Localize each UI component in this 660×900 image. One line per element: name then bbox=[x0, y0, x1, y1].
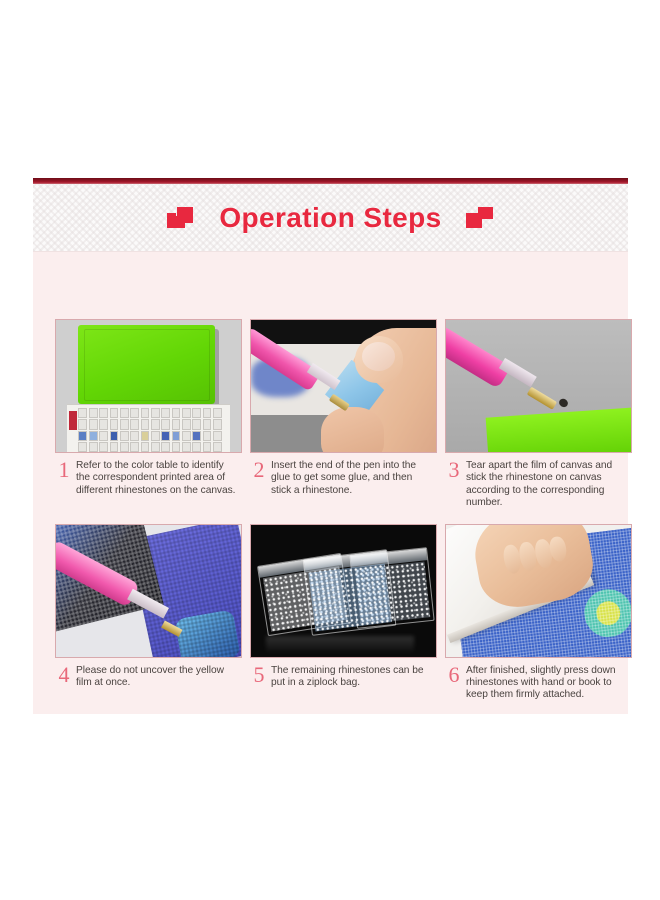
step-number: 1 bbox=[57, 460, 71, 497]
ziplock-bag-shape bbox=[302, 549, 396, 635]
steps-row-1: 1 Refer to the color table to identify t… bbox=[55, 319, 606, 510]
step-text: After finished, slightly press down rhin… bbox=[466, 665, 630, 702]
square-pair-decoration-right-icon bbox=[464, 205, 494, 231]
page-root: Operation Steps bbox=[0, 0, 660, 900]
step-caption-2: 2 Insert the end of the pen into the glu… bbox=[250, 453, 437, 497]
step-text: Tear apart the film of canvas and stick … bbox=[466, 460, 630, 510]
step-number: 6 bbox=[447, 665, 461, 702]
photo-pen-placing-rhinestone-on-canvas bbox=[55, 524, 242, 658]
step-caption-1: 1 Refer to the color table to identify t… bbox=[55, 453, 242, 497]
photo-ziplock-bags-of-rhinestones bbox=[250, 524, 437, 658]
step-card-2: 2 Insert the end of the pen into the glu… bbox=[250, 319, 437, 510]
step-number: 5 bbox=[252, 665, 266, 690]
step-number: 3 bbox=[447, 460, 461, 510]
step-text: Please do not uncover the yellow film at… bbox=[76, 665, 240, 690]
step-text: Insert the end of the pen into the glue … bbox=[271, 460, 435, 497]
step-caption-6: 6 After finished, slightly press down rh… bbox=[445, 658, 632, 702]
step-card-4: 4 Please do not uncover the yellow film … bbox=[55, 524, 242, 702]
color-chart-shape bbox=[67, 404, 230, 452]
glue-scene bbox=[251, 320, 436, 452]
page-title: Operation Steps bbox=[219, 202, 441, 234]
step-card-1: 1 Refer to the color table to identify t… bbox=[55, 319, 242, 510]
pink-pen-shape bbox=[445, 325, 511, 390]
photo-green-tray-with-rhinestones-and-color-chart bbox=[55, 319, 242, 453]
pen-tip-scene bbox=[446, 320, 631, 452]
tray-scene bbox=[56, 320, 241, 452]
step-card-3: 3 Tear apart the film of canvas and stic… bbox=[445, 319, 632, 510]
green-tray-shape bbox=[78, 325, 215, 404]
green-tray-shape bbox=[485, 407, 632, 453]
step-card-5: 5 The remaining rhinestones can be put i… bbox=[250, 524, 437, 702]
steps-row-2: 4 Please do not uncover the yellow film … bbox=[55, 524, 606, 702]
step-caption-3: 3 Tear apart the film of canvas and stic… bbox=[445, 453, 632, 510]
step-text: The remaining rhinestones can be put in … bbox=[271, 665, 435, 690]
step-number: 2 bbox=[252, 460, 266, 497]
step-caption-5: 5 The remaining rhinestones can be put i… bbox=[250, 658, 437, 690]
header-band: Operation Steps bbox=[33, 184, 628, 252]
instruction-sheet: Operation Steps bbox=[33, 178, 628, 714]
step-text: Refer to the color table to identify the… bbox=[76, 460, 240, 497]
photo-pen-dipping-into-blue-glue bbox=[250, 319, 437, 453]
photo-hand-pressing-book-on-canvas bbox=[445, 524, 632, 658]
step-caption-4: 4 Please do not uncover the yellow film … bbox=[55, 658, 242, 690]
ziplock-scene bbox=[251, 525, 436, 657]
pressing-scene bbox=[446, 525, 631, 657]
steps-grid: 1 Refer to the color table to identify t… bbox=[33, 253, 628, 702]
placing-scene bbox=[56, 525, 241, 657]
step-number: 4 bbox=[57, 665, 71, 690]
photo-pen-tip-over-green-tray bbox=[445, 319, 632, 453]
square-pair-decoration-left-icon bbox=[167, 205, 197, 231]
step-card-6: 6 After finished, slightly press down rh… bbox=[445, 524, 632, 702]
